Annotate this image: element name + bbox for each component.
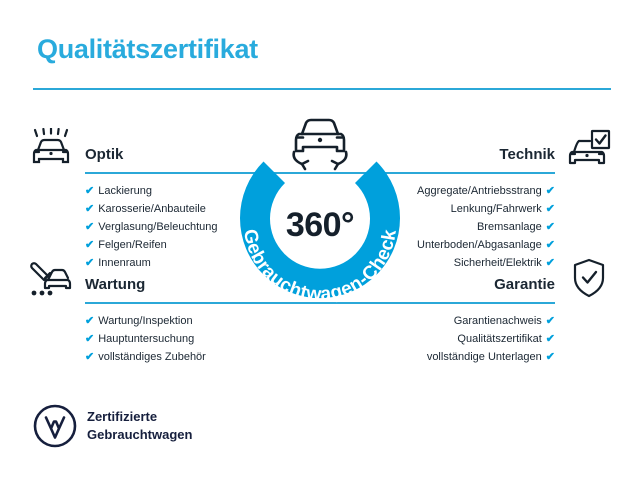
list-item-label: vollständiges Zubehör	[98, 351, 206, 363]
check-icon: ✔	[546, 221, 555, 233]
list-item: vollständige Unterlagen✔	[427, 348, 555, 366]
list-item: Unterboden/Abgasanlage✔	[417, 236, 555, 254]
list-item-label: Garantienachweis	[454, 315, 542, 327]
check-icon: ✔	[546, 239, 555, 251]
list-item: ✔Karosserie/Anbauteile	[85, 200, 217, 218]
vw-logo-icon	[33, 404, 77, 448]
badge-360-check: Gebrauchtwagen-Check 360°	[222, 120, 418, 316]
list-item-label: Karosserie/Anbauteile	[98, 203, 206, 215]
check-icon: ✔	[85, 185, 94, 197]
list-item: ✔vollständiges Zubehör	[85, 348, 206, 366]
check-icon: ✔	[85, 315, 94, 327]
footer-line-1: Zertifizierte	[87, 408, 192, 426]
car-checkbox-icon	[566, 128, 612, 170]
section-title: Wartung	[85, 276, 145, 293]
list-item-label: Qualitätszertifikat	[457, 333, 541, 345]
check-icon: ✔	[85, 351, 94, 363]
list-item: Qualitätszertifikat✔	[427, 330, 555, 348]
check-icon: ✔	[546, 315, 555, 327]
list-item-label: Felgen/Reifen	[98, 239, 167, 251]
list-item-label: Bremsanlage	[477, 221, 542, 233]
shield-check-icon	[566, 258, 612, 300]
section-title: Garantie	[494, 276, 555, 293]
list-item: Aggregate/Antriebsstrang✔	[417, 182, 555, 200]
list-item-label: Aggregate/Antriebsstrang	[417, 185, 542, 197]
list-item: ✔Hauptuntersuchung	[85, 330, 206, 348]
header-divider	[33, 88, 611, 90]
check-icon: ✔	[85, 221, 94, 233]
checklist-garantie: Garantienachweis✔ Qualitätszertifikat✔ v…	[427, 312, 555, 366]
list-item: ✔Verglasung/Beleuchtung	[85, 218, 217, 236]
list-item-label: Hauptuntersuchung	[98, 333, 194, 345]
list-item: ✔Wartung/Inspektion	[85, 312, 206, 330]
list-item: ✔Lackierung	[85, 182, 217, 200]
footer-text: Zertifizierte Gebrauchtwagen	[87, 408, 192, 444]
list-item-label: Lenkung/Fahrwerk	[451, 203, 542, 215]
check-icon: ✔	[85, 203, 94, 215]
list-item-label: Lackierung	[98, 185, 152, 197]
list-item-label: Verglasung/Beleuchtung	[98, 221, 217, 233]
check-icon: ✔	[546, 333, 555, 345]
check-icon: ✔	[85, 333, 94, 345]
section-title: Optik	[85, 146, 123, 163]
car-front-light-icon	[28, 128, 74, 170]
list-item-label: vollständige Unterlagen	[427, 351, 542, 363]
check-icon: ✔	[546, 203, 555, 215]
certificate-page: Qualitätszertifikat Optik ✔Lackierung ✔K…	[0, 0, 640, 480]
car-service-wrench-icon	[28, 258, 74, 300]
footer-line-2: Gebrauchtwagen	[87, 426, 192, 444]
check-icon: ✔	[85, 239, 94, 251]
page-title: Qualitätszertifikat	[37, 34, 258, 65]
check-icon: ✔	[546, 351, 555, 363]
list-item: ✔Felgen/Reifen	[85, 236, 217, 254]
list-item-label: Wartung/Inspektion	[98, 315, 192, 327]
checklist-wartung: ✔Wartung/Inspektion ✔Hauptuntersuchung ✔…	[85, 312, 206, 366]
list-item-label: Unterboden/Abgasanlage	[417, 239, 542, 251]
list-item: Lenkung/Fahrwerk✔	[417, 200, 555, 218]
check-icon: ✔	[546, 185, 555, 197]
section-title: Technik	[499, 146, 555, 163]
list-item: Bremsanlage✔	[417, 218, 555, 236]
list-item: Garantienachweis✔	[427, 312, 555, 330]
car-rotate-icon	[278, 112, 362, 174]
